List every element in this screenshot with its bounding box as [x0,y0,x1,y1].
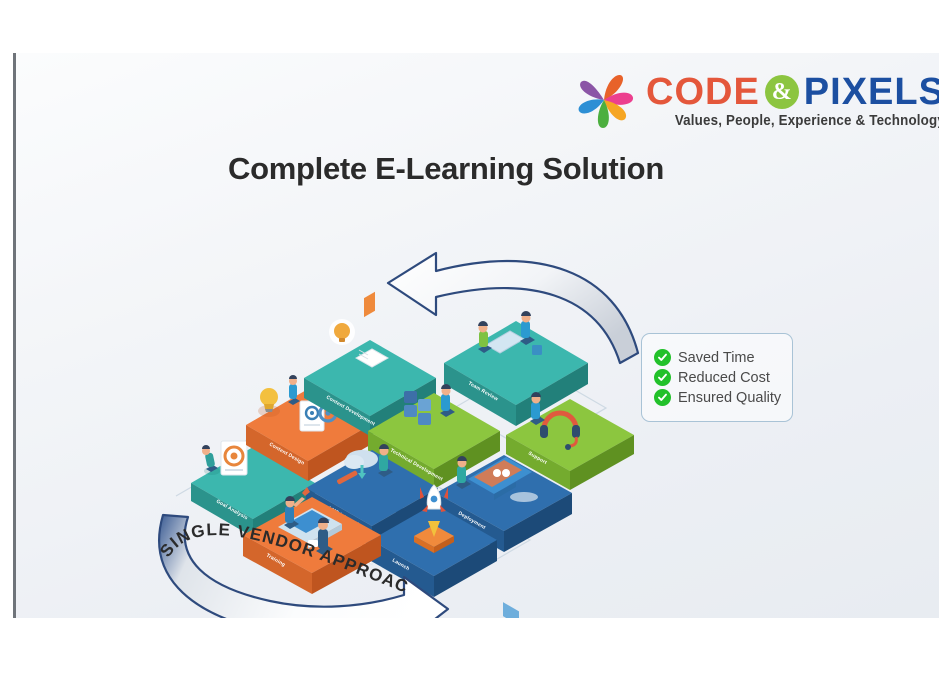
check-circle-icon [654,369,671,386]
check-circle-icon [654,349,671,366]
benefit-item-reduced-cost: Reduced Cost [654,369,782,386]
slide-canvas: CODE & PIXELS Values, People, Experience… [13,53,939,618]
check-circle-icon [654,389,671,406]
benefit-item-saved-time: Saved Time [654,349,782,366]
isometric-process-diagram: Goal Analysis [16,53,939,618]
benefit-item-ensured-quality: Ensured Quality [654,389,782,406]
benefit-label: Ensured Quality [678,390,781,406]
benefit-label: Reduced Cost [678,370,770,386]
benefit-label: Saved Time [678,350,755,366]
screenshot-root: CODE & PIXELS Values, People, Experience… [0,0,952,673]
benefits-panel: Saved Time Reduced Cost Ensured Quality [641,333,793,422]
